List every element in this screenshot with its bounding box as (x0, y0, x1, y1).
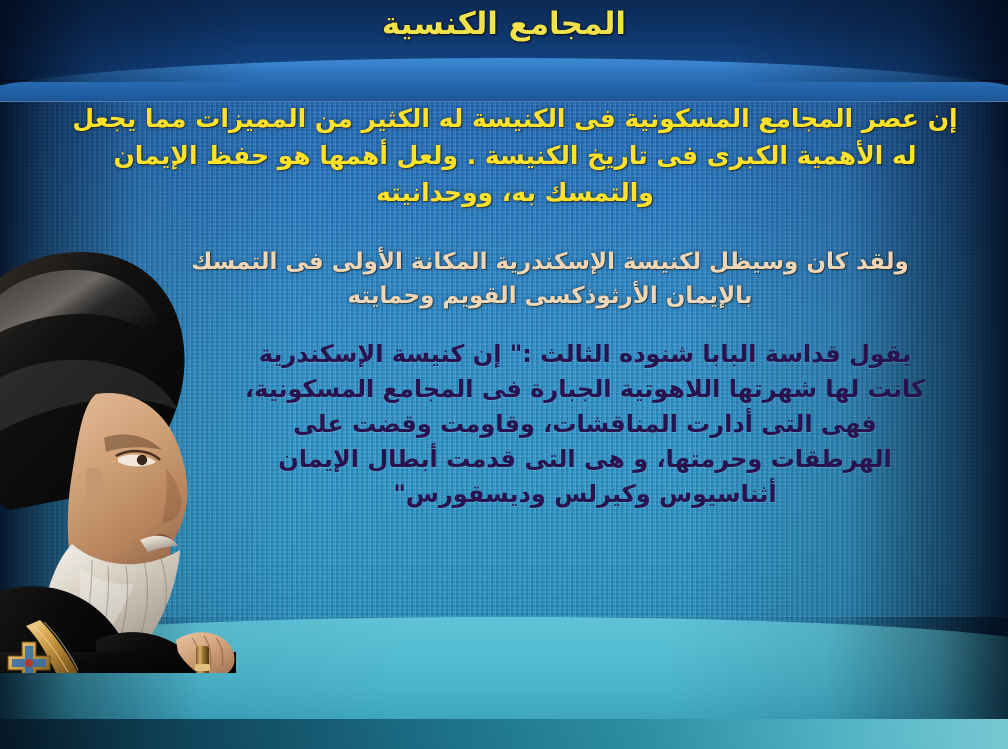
staff-band (195, 664, 210, 671)
background-bottom-strip (0, 719, 1008, 749)
slide-title: المجامع الكنسية (0, 6, 1008, 42)
pope-shenouda-photo (0, 248, 236, 673)
pope-portrait-illustration (0, 248, 236, 673)
paragraph-intro: إن عصر المجامع المسكونية فى الكنيسة له ا… (60, 100, 970, 211)
pupil (137, 455, 147, 465)
presentation-slide: المجامع الكنسية إن عصر المجامع المسكونية… (0, 0, 1008, 749)
